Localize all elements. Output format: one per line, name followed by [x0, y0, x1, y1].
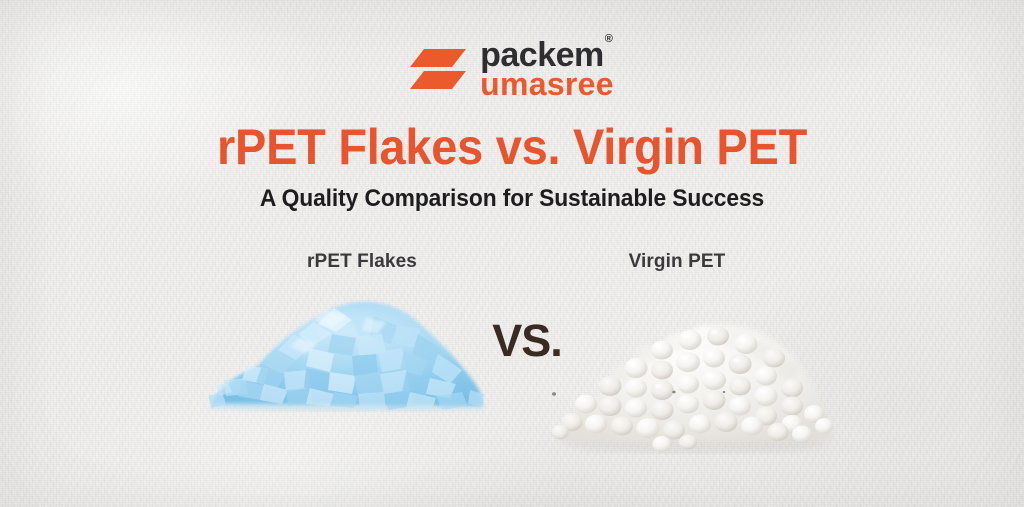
packem-parallelogram-mark — [410, 47, 466, 91]
wordmark-packem: packem® — [480, 38, 611, 72]
versus-separator: VS. — [482, 316, 572, 366]
page-subtitle: A Quality Comparison for Sustainable Suc… — [26, 184, 999, 214]
wordmark-packem-text: packem — [480, 36, 604, 74]
virgin-pet-pellets-image — [552, 292, 836, 454]
brand-logo[interactable]: packem® umasree — [0, 38, 1024, 100]
sample-label-virgin-pet: Virgin PET — [577, 250, 777, 274]
page-title: rPET Flakes vs. Virgin PET — [31, 118, 994, 176]
poster-canvas: packem® umasree rPET Flakes vs. Virgin P… — [0, 0, 1024, 507]
virgin-pet-pellets-illustration — [552, 292, 836, 454]
registered-trademark-icon: ® — [605, 33, 613, 45]
rpet-flakes-image — [206, 282, 486, 412]
sample-label-rpet-flakes: rPET Flakes — [262, 250, 462, 274]
rpet-flakes-illustration — [206, 282, 486, 412]
brand-wordmark: packem® umasree — [480, 38, 614, 100]
